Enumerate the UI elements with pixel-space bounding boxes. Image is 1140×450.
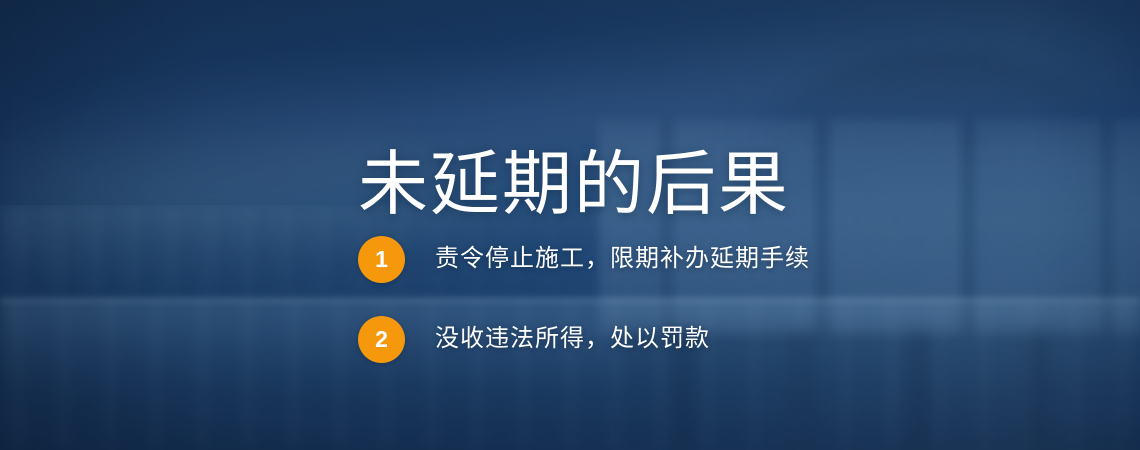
bullet-item-1: 1 责令停止施工，限期补办延期手续	[358, 236, 810, 283]
bullet-text-1: 责令停止施工，限期补办延期手续	[435, 245, 810, 274]
bullet-number-badge-2: 2	[358, 316, 405, 363]
bullet-list: 1 责令停止施工，限期补办延期手续 2 没收违法所得，处以罚款	[358, 236, 810, 363]
presentation-slide: 未延期的后果 1 责令停止施工，限期补办延期手续 2 没收违法所得，处以罚款	[0, 0, 1140, 450]
slide-content: 未延期的后果 1 责令停止施工，限期补办延期手续 2 没收违法所得，处以罚款	[0, 0, 1140, 450]
bullet-number-badge-1: 1	[358, 236, 405, 283]
bullet-text-2: 没收违法所得，处以罚款	[435, 325, 710, 354]
slide-title: 未延期的后果	[358, 147, 790, 223]
bullet-item-2: 2 没收违法所得，处以罚款	[358, 316, 810, 363]
